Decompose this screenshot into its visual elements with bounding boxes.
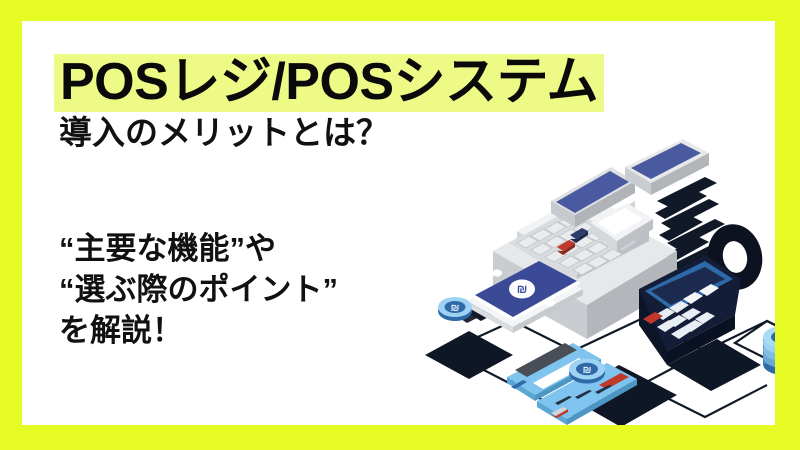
svg-text:₪: ₪: [451, 303, 460, 314]
coin-single-center: ₪: [569, 359, 605, 384]
coin-single-left: ₪: [438, 297, 472, 321]
coin-stack-right: ₪: [763, 326, 775, 375]
poster-inner-card: POSレジ/POSシステム 導入のメリットとは？ “主要な機能”や “選ぶ際のポ…: [22, 21, 775, 425]
poster-canvas: POSレジ/POSシステム 導入のメリットとは？ “主要な機能”や “選ぶ際のポ…: [0, 0, 800, 450]
hero-text-block: POSレジ/POSシステム 導入のメリットとは？: [54, 54, 674, 152]
page-title: POSレジ/POSシステム: [60, 56, 598, 108]
title-highlight-band: POSレジ/POSシステム: [54, 54, 604, 112]
pos-register-illustration: ₪: [405, 139, 775, 425]
svg-text:₪: ₪: [583, 365, 592, 376]
svg-text:₪: ₪: [517, 282, 528, 296]
